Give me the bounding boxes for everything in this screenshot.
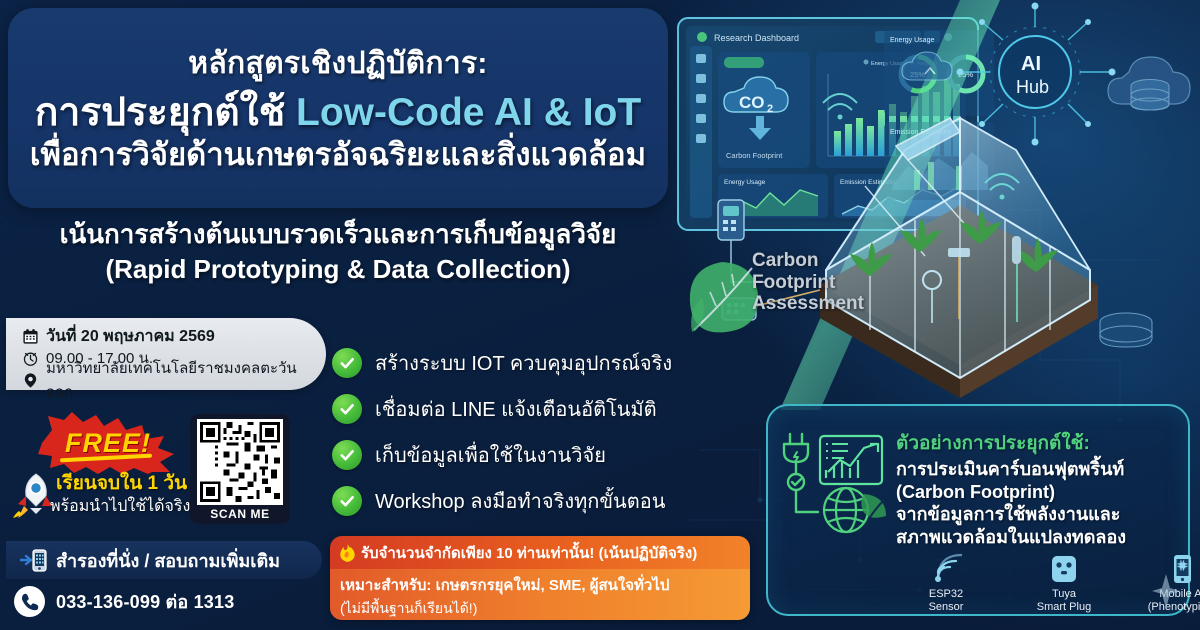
contact-phone-row[interactable]: 033-136-099 ต่อ 1313 bbox=[14, 586, 234, 617]
panel-heading: ตัวอย่างการประยุกต์ใช้: bbox=[896, 428, 1184, 458]
svg-text:CO: CO bbox=[739, 93, 765, 112]
smart-plug-icon bbox=[1048, 552, 1080, 586]
list-item: เก็บข้อมูลเพื่อใช้ในงานวิจัย bbox=[332, 432, 732, 478]
notice-body: เหมาะสำหรับ: เกษตรกรยุคใหม่, SME, ผู้สนใ… bbox=[330, 569, 750, 620]
phone-icon bbox=[19, 591, 41, 613]
subtitle-english: (Rapid Prototyping & Data Collection) bbox=[8, 253, 668, 287]
limited-seats-notice: รับจำนวนจำกัดเพียง 10 ท่านเท่านั้น! (เน้… bbox=[330, 536, 750, 620]
panel-line-4: สภาพแวดล้อมในแปลงทดลอง bbox=[896, 526, 1184, 549]
chip-caption-line1: Tuya bbox=[1037, 588, 1091, 601]
panel-text-block: ตัวอย่างการประยุกต์ใช้: การประเมินคาร์บอ… bbox=[896, 428, 1184, 548]
checklist-label: สร้างระบบ IOT ควบคุมอุปกรณ์จริง bbox=[375, 347, 672, 379]
course-title-purpose: เพื่อการวิจัยด้านเกษตรอัจฉริยะและสิ่งแวด… bbox=[30, 138, 646, 172]
checklist-label: Workshop ลงมือทำจริงทุกขั้นตอน bbox=[375, 485, 665, 517]
chip-tuya: Tuya Smart Plug bbox=[1018, 552, 1110, 614]
event-venue-text: มหาวิทยาลัยเทคโนโลยีราชมงคลตะวันออก bbox=[46, 356, 316, 404]
location-pin-icon bbox=[22, 372, 39, 389]
course-title-prefix: การประยุกต์ใช้ bbox=[35, 91, 296, 134]
free-badge-text: FREE! bbox=[38, 412, 178, 474]
panel-line-1: การประเมินคาร์บอนฟุตพริ้นท์ bbox=[896, 458, 1184, 481]
chip-caption: Tuya Smart Plug bbox=[1037, 588, 1091, 614]
cloud-database-icon bbox=[1108, 57, 1190, 110]
course-title-accent: Low-Code AI & IoT bbox=[296, 91, 641, 134]
phone-icon-circle bbox=[14, 586, 45, 617]
storage-disk-icon bbox=[1100, 313, 1152, 347]
list-item: สร้างระบบ IOT ควบคุมอุปกรณ์จริง bbox=[332, 340, 732, 386]
qr-scan-label: SCAN ME bbox=[210, 507, 270, 521]
globe-leaf-icon bbox=[824, 488, 868, 532]
panel-illustration-icons bbox=[780, 428, 890, 536]
svg-text:Energy Usage: Energy Usage bbox=[724, 179, 766, 186]
panel-line-2: (Carbon Footprint) bbox=[896, 481, 1184, 504]
chip-caption-line2: Smart Plug bbox=[1037, 601, 1091, 614]
list-item: Workshop ลงมือทำจริงทุกขั้นตอน bbox=[332, 478, 732, 524]
contact-phone-number: 033-136-099 ต่อ 1313 bbox=[56, 587, 234, 616]
svg-text:AI: AI bbox=[1021, 53, 1041, 75]
reserve-seat-text: สำรองที่นั่ง / สอบถามเพิ่มเติม bbox=[56, 546, 280, 575]
notice-body-line2: (ไม่มีพื้นฐานก็เรียนได้!) bbox=[340, 598, 740, 620]
calendar-icon bbox=[22, 328, 39, 345]
wifi-sensor-icon bbox=[930, 552, 962, 586]
free-badge-block: FREE! เรียนจบใน 1 วัน พร้อมนำไปใช้ได้จริ… bbox=[8, 412, 193, 532]
notice-headline: รับจำนวนจำกัดเพียง 10 ท่านเท่านั้น! (เน้… bbox=[361, 541, 697, 565]
course-title-main: การประยุกต์ใช้ Low-Code AI & IoT bbox=[35, 93, 641, 134]
rocket-icon bbox=[10, 470, 52, 518]
chip-esp32: ESP32 Sensor bbox=[900, 552, 992, 614]
svg-text:Energy Usage: Energy Usage bbox=[890, 37, 934, 44]
event-venue-row: มหาวิทยาลัยเทคโนโลยีราชมงคลตะวันออก bbox=[22, 369, 316, 391]
qr-code-card[interactable]: SCAN ME bbox=[190, 414, 290, 524]
dashboard-greenhouse-illustration: Research Dashboard CO 2 Carbon Footprint… bbox=[660, 0, 1200, 410]
chip-caption-line1: ESP32 bbox=[929, 588, 964, 601]
course-type-line: หลักสูตรเชิงปฏิบัติการ: bbox=[188, 40, 487, 87]
chip-caption-line2: Sensor bbox=[929, 601, 964, 614]
svg-text:Research Dashboard: Research Dashboard bbox=[714, 33, 799, 43]
mobile-register-icon bbox=[20, 548, 48, 572]
checklist-label: เก็บข้อมูลเพื่อใช้ในงานวิจัย bbox=[375, 439, 606, 471]
qr-code-icon[interactable] bbox=[197, 419, 283, 505]
list-item: เชื่อมต่อ LINE แจ้งเตือนอัติโนมัติ bbox=[332, 386, 732, 432]
promo-banner: Research Dashboard CO 2 Carbon Footprint… bbox=[0, 0, 1200, 630]
application-example-panel: ตัวอย่างการประยุกต์ใช้: การประเมินคาร์บอ… bbox=[766, 404, 1190, 616]
leaf-icon bbox=[690, 262, 758, 332]
power-plug-icon bbox=[790, 434, 802, 444]
sparkle-decoration bbox=[1152, 574, 1180, 608]
notice-headline-row: รับจำนวนจำกัดเพียง 10 ท่านเท่านั้น! (เน้… bbox=[330, 536, 750, 569]
check-circle-icon bbox=[332, 348, 362, 378]
svg-text:Hub: Hub bbox=[1016, 77, 1049, 97]
event-info-pill: วันที่ 20 พฤษภาคม 2569 09.00 - 17.00 น. … bbox=[6, 318, 326, 390]
fire-icon bbox=[340, 544, 355, 562]
checklist-label: เชื่อมต่อ LINE แจ้งเตือนอัติโนมัติ bbox=[375, 393, 657, 425]
check-circle-icon bbox=[332, 394, 362, 424]
free-tagline-2: พร้อมนำไปใช้ได้จริง! bbox=[50, 494, 195, 519]
panel-line-3: จากข้อมูลการใช้พลังงานและ bbox=[896, 503, 1184, 526]
subtitle-block: เน้นการสร้างต้นแบบรวดเร็วและการเก็บข้อมู… bbox=[8, 218, 668, 286]
event-date-row: วันที่ 20 พฤษภาคม 2569 bbox=[22, 325, 316, 347]
title-card: หลักสูตรเชิงปฏิบัติการ: การประยุกต์ใช้ L… bbox=[8, 8, 668, 208]
check-circle-icon bbox=[332, 440, 362, 470]
reserve-seat-pill[interactable]: สำรองที่นั่ง / สอบถามเพิ่มเติม bbox=[6, 541, 322, 579]
feature-checklist: สร้างระบบ IOT ควบคุมอุปกรณ์จริง เชื่อมต่… bbox=[332, 340, 732, 524]
notice-body-line1: เหมาะสำหรับ: เกษตรกรยุคใหม่, SME, ผู้สนใ… bbox=[340, 573, 740, 597]
event-date-text: วันที่ 20 พฤษภาคม 2569 bbox=[46, 324, 215, 349]
svg-text:Carbon Footprint: Carbon Footprint bbox=[726, 151, 783, 160]
chip-caption: ESP32 Sensor bbox=[929, 588, 964, 614]
svg-text:2: 2 bbox=[767, 103, 773, 115]
clock-icon bbox=[22, 350, 39, 367]
carbon-footprint-assessment-label: Carbon Footprint Assessment bbox=[752, 250, 864, 315]
check-circle-icon bbox=[332, 486, 362, 516]
subtitle-thai: เน้นการสร้างต้นแบบรวดเร็วและการเก็บข้อมู… bbox=[8, 218, 668, 251]
